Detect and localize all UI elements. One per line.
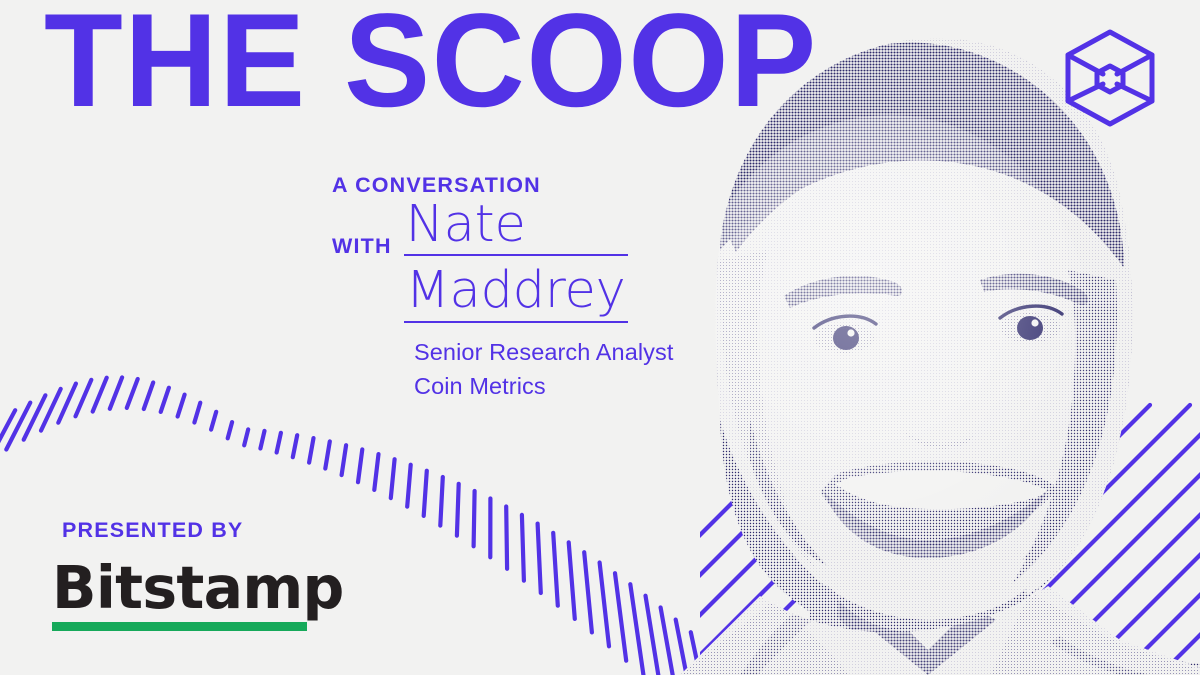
the-block-cube-logo[interactable] xyxy=(1062,28,1158,128)
podcast-cover-canvas: THE SCOOP A CONVERSATION WITH Nate Maddr… xyxy=(0,0,1200,675)
sponsor-name: Bitstamp xyxy=(52,558,344,617)
guest-company: Coin Metrics xyxy=(414,370,674,403)
page-title: THE SCOOP xyxy=(44,0,818,130)
guest-name-first: Nate xyxy=(404,200,628,257)
guest-name: Nate Maddrey xyxy=(404,200,628,324)
with-label: WITH xyxy=(332,200,392,259)
guest-role: Senior Research Analyst Coin Metrics xyxy=(414,336,674,403)
presented-by-label: PRESENTED BY xyxy=(62,518,243,543)
guest-role-title: Senior Research Analyst xyxy=(414,336,674,369)
sponsor-underline xyxy=(52,622,307,631)
guest-name-last: Maddrey xyxy=(404,266,628,323)
guest-credit-block: A CONVERSATION WITH Nate Maddrey Senior … xyxy=(332,172,674,403)
with-name-row: WITH Nate Maddrey xyxy=(332,200,674,324)
sponsor-logo-bitstamp[interactable]: Bitstamp xyxy=(52,558,347,631)
